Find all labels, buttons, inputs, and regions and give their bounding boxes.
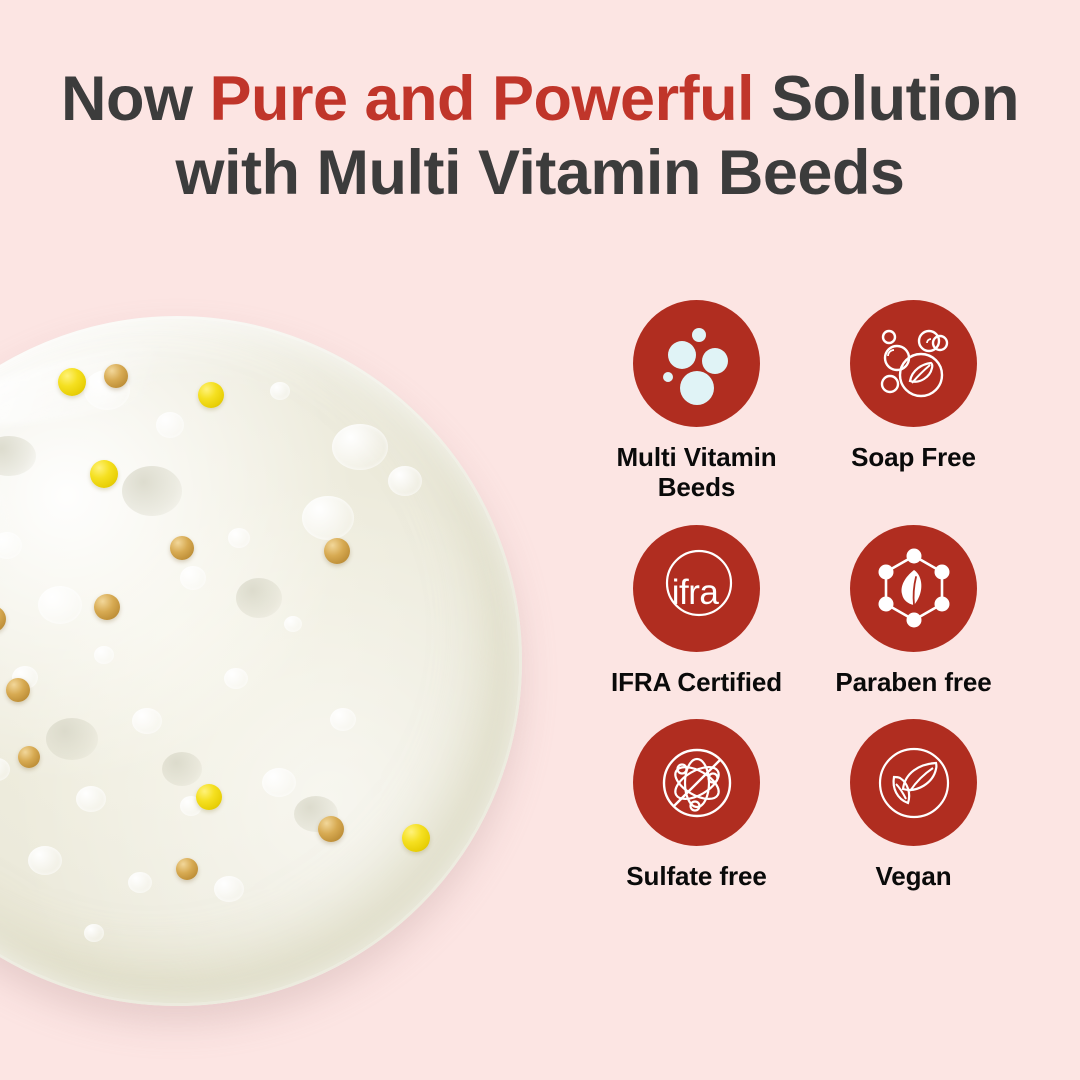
vitamin-bead — [90, 460, 118, 488]
soap-bubbles-leaf-icon — [874, 324, 954, 404]
gel-bubble — [76, 786, 106, 812]
gel-bubble — [28, 846, 62, 875]
vitamin-bead — [176, 858, 198, 880]
badge-circle — [850, 300, 977, 427]
vitamin-bead — [104, 364, 128, 388]
vitamin-bead — [198, 382, 224, 408]
multi-vitamin-beads-icon — [653, 320, 741, 408]
gel-bubble — [388, 466, 422, 496]
gel-bubble — [122, 466, 182, 516]
gel-bubble — [302, 496, 354, 540]
gel-bubble — [262, 768, 296, 797]
vitamin-bead — [196, 784, 222, 810]
gel-bubble — [224, 668, 248, 689]
gel-bubble — [236, 578, 282, 618]
vitamin-bead — [402, 824, 430, 852]
page-title: Now Pure and Powerful Solution with Mult… — [0, 62, 1080, 211]
benefit-badge-grid: Multi Vitamin Beeds Soap Free ifr — [595, 300, 1015, 892]
vitamin-bead — [94, 594, 120, 620]
svg-text:ifra: ifra — [671, 573, 719, 612]
benefit-item-ifra-certified[interactable]: ifra IFRA Certified — [595, 525, 798, 697]
headline-line-2: with Multi Vitamin Beeds — [176, 138, 905, 208]
gel-bubble — [270, 382, 290, 400]
benefit-label: Soap Free — [851, 442, 976, 472]
gel-bubble — [38, 586, 82, 624]
gel-rim — [0, 316, 522, 1006]
gel-bubble — [94, 646, 114, 664]
benefit-item-vegan[interactable]: Vegan — [812, 719, 1015, 891]
vitamin-bead — [318, 816, 344, 842]
gel-bubble — [128, 872, 152, 893]
vitamin-bead — [58, 368, 86, 396]
no-atom-icon — [655, 741, 739, 825]
vitamin-bead — [6, 678, 30, 702]
product-gel-blob — [0, 316, 522, 1006]
benefit-item-paraben-free[interactable]: Paraben free — [812, 525, 1015, 697]
benefit-item-soap-free[interactable]: Soap Free — [812, 300, 1015, 503]
gel-bubble — [332, 424, 388, 470]
gel-bubble — [156, 412, 184, 438]
headline-accent-text: Pure and Powerful — [209, 64, 754, 134]
badge-circle — [633, 719, 760, 846]
benefit-label: IFRA Certified — [611, 667, 782, 697]
benefit-item-sulfate-free[interactable]: Sulfate free — [595, 719, 798, 891]
gel-bubble — [132, 708, 162, 734]
gel-bubble — [330, 708, 356, 731]
leaves-circle-icon — [870, 739, 958, 827]
vitamin-bead — [170, 536, 194, 560]
gel-bubble — [214, 876, 244, 902]
badge-circle — [850, 719, 977, 846]
gel-bubble — [162, 752, 202, 786]
vitamin-bead — [324, 538, 350, 564]
benefit-label: Multi Vitamin Beeds — [595, 442, 798, 503]
benefit-label: Sulfate free — [626, 861, 766, 891]
gel-bubble — [284, 616, 302, 632]
headline-text-post: Solution — [754, 64, 1019, 134]
gel-bubble — [84, 924, 104, 942]
benefit-label: Vegan — [875, 861, 951, 891]
ifra-logo-icon: ifra — [647, 538, 747, 638]
badge-circle: ifra — [633, 525, 760, 652]
benefit-label: Paraben free — [835, 667, 991, 697]
gel-bubble — [228, 528, 250, 548]
gel-bubble — [46, 718, 98, 760]
badge-circle — [633, 300, 760, 427]
vitamin-bead — [18, 746, 40, 768]
gel-bubble — [180, 566, 206, 590]
headline-line-1: Now Pure and Powerful Solution — [61, 64, 1019, 134]
headline-text-pre: Now — [61, 64, 210, 134]
badge-circle — [850, 525, 977, 652]
molecule-leaf-icon — [873, 547, 955, 629]
benefit-item-multi-vitamin-beeds[interactable]: Multi Vitamin Beeds — [595, 300, 798, 503]
